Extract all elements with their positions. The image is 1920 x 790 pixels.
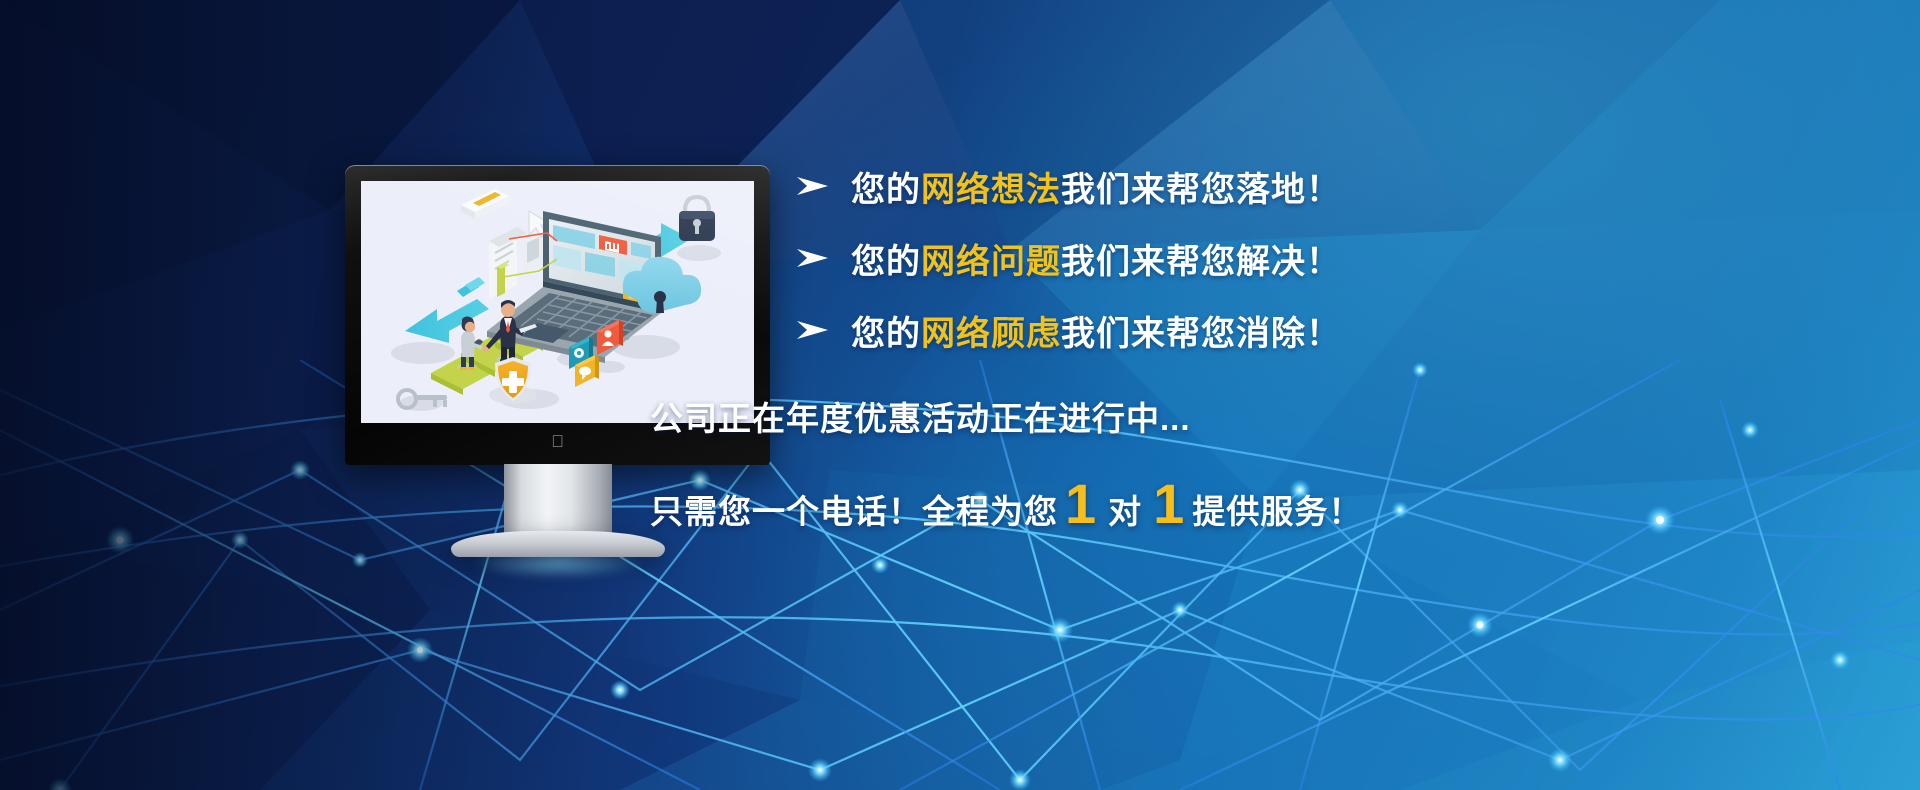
cta-text: 只需您一个电话！全程为您 1 对 1 提供服务！	[650, 482, 1795, 533]
bullet-suffix-2: 我们来帮您解决！	[1061, 243, 1341, 281]
bullet-item-1: 您的网络想法我们来帮您落地！	[795, 150, 1795, 222]
arrow-right-icon	[795, 176, 837, 196]
apple-logo-icon: 	[550, 432, 566, 451]
bullet-highlight-3: 网络顾虑	[921, 315, 1061, 353]
bullet-item-2: 您的网络问题我们来帮您解决！	[795, 222, 1795, 294]
copy-block: 您的网络想法我们来帮您落地！ 您的网络问题我们来帮您解决！ 您的网络顾虑我们来帮…	[795, 150, 1795, 533]
isometric-network-security-scene	[361, 181, 754, 423]
bullet-highlight-1: 网络想法	[921, 171, 1061, 209]
cta-number-one-second: 1	[1146, 482, 1192, 527]
bullet-item-3: 您的网络顾虑我们来帮您消除！	[795, 294, 1795, 366]
cta-lead: 只需您一个电话！全程为您	[650, 485, 1058, 533]
bullet-text-2: 您的网络问题我们来帮您解决！	[851, 234, 1341, 283]
bullet-text-1: 您的网络想法我们来帮您落地！	[851, 162, 1341, 211]
cta-middle: 对	[1104, 485, 1146, 533]
bullet-prefix-2: 您的	[851, 243, 921, 281]
bullet-text-3: 您的网络顾虑我们来帮您消除！	[851, 306, 1341, 355]
bullet-suffix-3: 我们来帮您消除！	[1061, 315, 1341, 353]
cta-tail: 提供服务！	[1192, 485, 1362, 533]
promo-text: 公司正在年度优惠活动正在进行中...	[650, 392, 1795, 440]
bullet-suffix-1: 我们来帮您落地！	[1061, 171, 1341, 209]
arrow-right-icon	[795, 248, 837, 268]
cta-number-one-first: 1	[1058, 482, 1104, 527]
bullet-prefix-1: 您的	[851, 171, 921, 209]
bullet-highlight-2: 网络问题	[921, 243, 1061, 281]
arrow-right-icon	[795, 320, 837, 340]
bullet-prefix-3: 您的	[851, 315, 921, 353]
promo-banner:  您的网络想法我们来帮您落地！ 您的网络问题我们来帮您解决！ 您的网络顾虑我们…	[0, 0, 1920, 790]
monitor-foot	[451, 531, 665, 557]
monitor-screen	[361, 181, 754, 423]
